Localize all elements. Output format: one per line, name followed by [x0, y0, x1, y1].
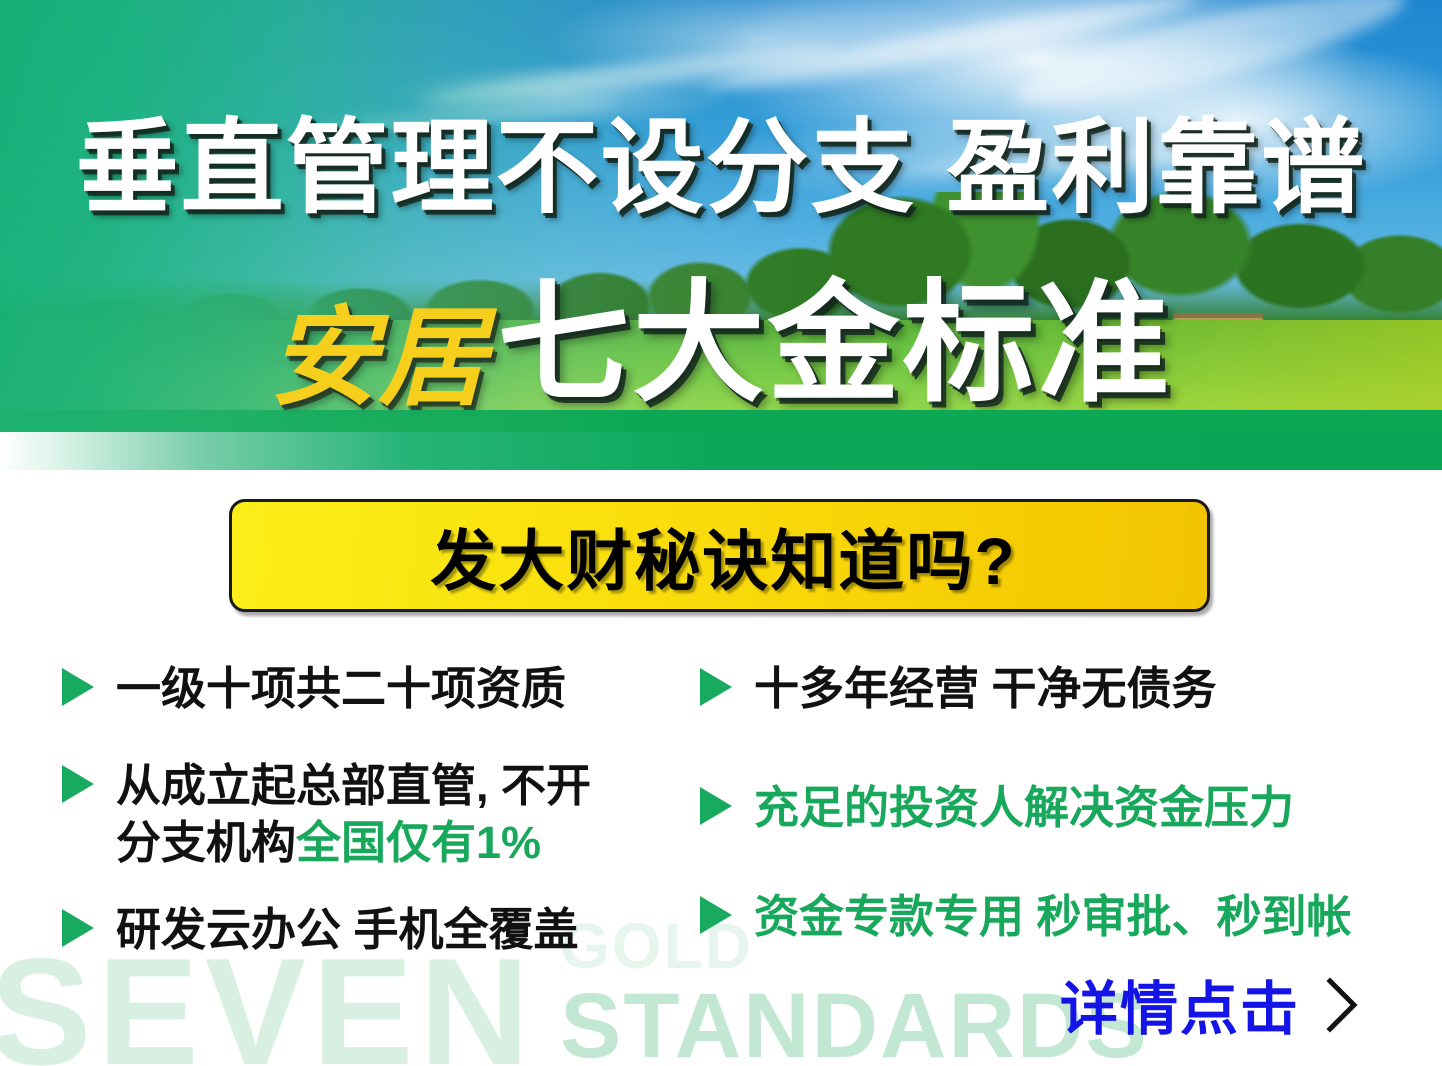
list-item: 充足的投资人解决资金压力: [700, 779, 1400, 836]
feature-column-left: 一级十项共二十项资质 从成立起总部直管, 不开 分支机构全国仅有1% 研发云办公…: [62, 660, 682, 993]
list-item: 一级十项共二十项资质: [62, 660, 682, 717]
headline-banner-text: 发大财秘诀知道吗?: [430, 508, 1016, 604]
hero-seven-gold-standards: 七大金标准: [498, 270, 1173, 417]
list-item: 十多年经营 干净无债务: [700, 660, 1400, 717]
feature-text-left-2-highlight: 全国仅有1%: [296, 817, 541, 868]
hero-title-line-2: 安居七大金标准: [0, 278, 1442, 414]
chevron-right-icon: [1322, 975, 1362, 1035]
triangle-bullet-icon: [62, 668, 94, 706]
content-area: SEVEN GOLD STANDARDS 发大财秘诀知道吗? 一级十项共二十项资…: [0, 470, 1442, 1066]
feature-text-right-2: 充足的投资人解决资金压力: [754, 779, 1294, 836]
list-item: 研发云办公 手机全覆盖: [62, 901, 682, 958]
promo-poster: 垂直管理不设分支 盈利靠谱 安居七大金标准 SEVEN GOLD STANDAR…: [0, 0, 1442, 1066]
headline-banner[interactable]: 发大财秘诀知道吗?: [229, 499, 1210, 612]
triangle-bullet-icon: [62, 765, 94, 803]
triangle-bullet-icon: [700, 668, 732, 706]
list-item: 资金专款专用 秒审批、秒到帐: [700, 888, 1400, 945]
hero-banner: 垂直管理不设分支 盈利靠谱 安居七大金标准: [0, 0, 1442, 470]
feature-text-left-1: 一级十项共二十项资质: [116, 660, 566, 717]
triangle-bullet-icon: [62, 909, 94, 947]
details-cta-label: 详情点击: [1060, 962, 1300, 1046]
feature-text-right-1: 十多年经营 干净无债务: [754, 660, 1217, 717]
triangle-bullet-icon: [700, 787, 732, 825]
hero-brand-anju: 安居: [269, 300, 487, 419]
hero-title-line-1: 垂直管理不设分支 盈利靠谱: [0, 116, 1442, 219]
hero-band-divider: [0, 432, 1442, 470]
feature-text-left-2: 从成立起总部直管, 不开 分支机构全国仅有1%: [116, 757, 591, 871]
triangle-bullet-icon: [700, 896, 732, 934]
details-cta-button[interactable]: 详情点击: [1060, 962, 1362, 1046]
hero-band-upper: [0, 410, 1442, 432]
feature-text-left-3: 研发云办公 手机全覆盖: [116, 901, 579, 958]
feature-column-right: 十多年经营 干净无债务 充足的投资人解决资金压力 资金专款专用 秒审批、秒到帐: [700, 660, 1400, 979]
list-item: 从成立起总部直管, 不开 分支机构全国仅有1%: [62, 757, 682, 871]
feature-text-right-3: 资金专款专用 秒审批、秒到帐: [754, 888, 1352, 945]
